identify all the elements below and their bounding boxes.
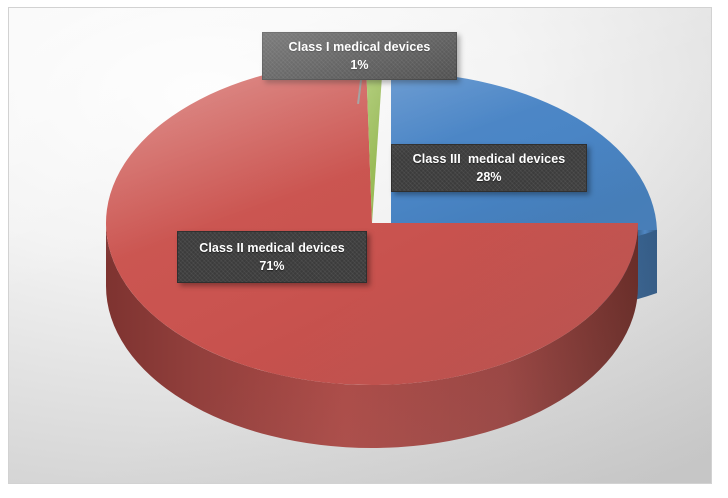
data-label-class2[interactable]: Class II medical devices 71% (177, 231, 367, 283)
pie-chart-figure: Class I medical devices 1% Class III med… (8, 7, 712, 484)
data-label-class3-percent: 28% (476, 168, 501, 186)
data-label-class1-name: Class I medical devices (289, 38, 431, 56)
data-label-class2-name: Class II medical devices (199, 239, 345, 257)
data-label-class2-percent: 71% (259, 257, 284, 275)
data-label-class3-name: Class III medical devices (413, 150, 566, 168)
data-label-class1-percent: 1% (350, 56, 368, 74)
data-label-class1[interactable]: Class I medical devices 1% (262, 32, 457, 80)
screenshot-root: Class I medical devices 1% Class III med… (0, 0, 728, 498)
data-label-class3[interactable]: Class III medical devices 28% (391, 144, 587, 192)
